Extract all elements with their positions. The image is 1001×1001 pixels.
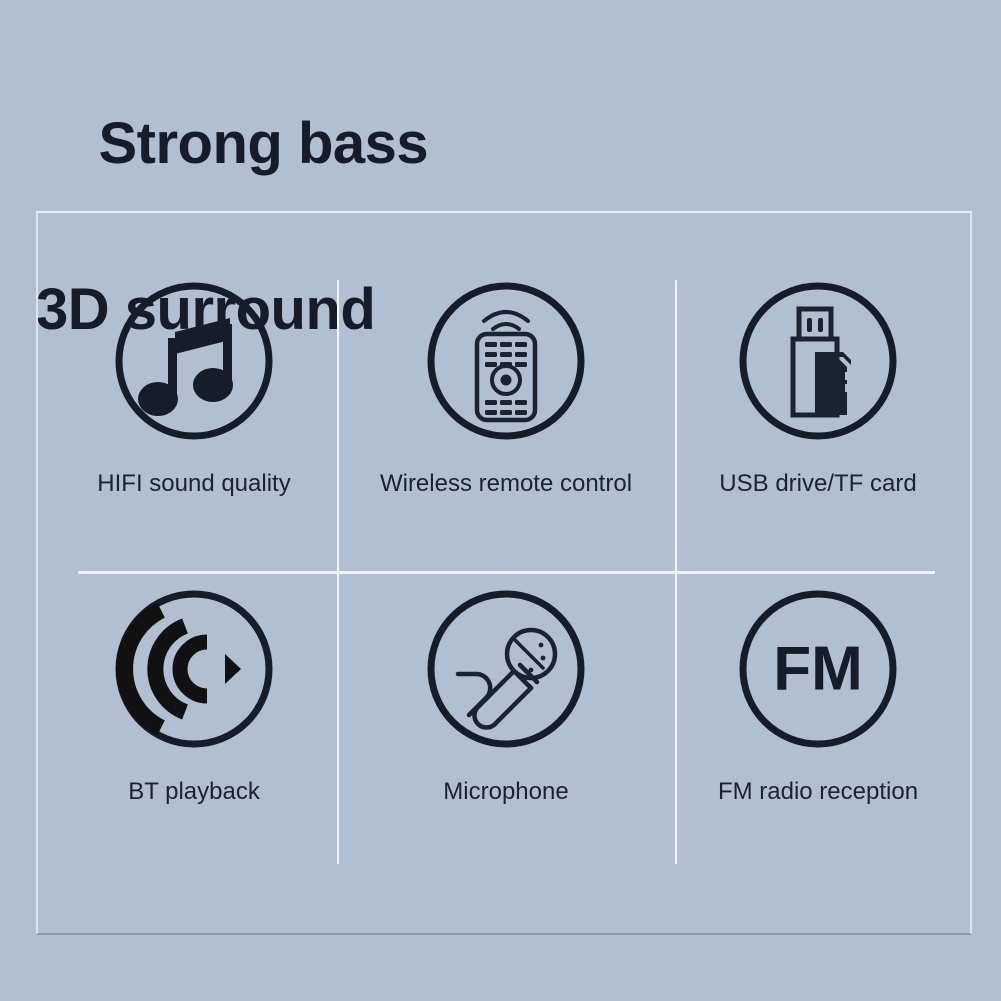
fm-glyph: FM [773,635,863,704]
signal-waves-icon [113,588,275,750]
feature-item-hifi-sound-quality: HIFI sound quality [38,213,350,572]
remote-control-icon [425,280,587,442]
feature-grid: HIFI sound quality [38,213,974,937]
feature-label: Microphone [443,778,568,807]
feature-item-bt-playback: BT playback [38,572,350,872]
product-feature-infographic: Strong bass 3D surround [0,0,1001,1001]
feature-label: Wireless remote control [380,470,632,499]
feature-item-usb-drive-tf-card: USB drive/TF card [662,213,974,572]
usb-drive-tf-card-icon [737,280,899,442]
microphone-icon [425,588,587,750]
feature-label: HIFI sound quality [97,470,290,499]
music-note-icon [113,280,275,442]
feature-label: FM radio reception [718,778,918,807]
page-title-line-1: Strong bass [98,111,428,176]
feature-item-wireless-remote-control: Wireless remote control [350,213,662,572]
feature-label: USB drive/TF card [719,470,916,499]
feature-item-microphone: Microphone [350,572,662,872]
feature-label: BT playback [128,778,260,807]
feature-item-fm-radio-reception: FM FM radio reception [662,572,974,872]
fm-text-icon: FM [737,588,899,750]
feature-panel: HIFI sound quality [36,211,972,935]
